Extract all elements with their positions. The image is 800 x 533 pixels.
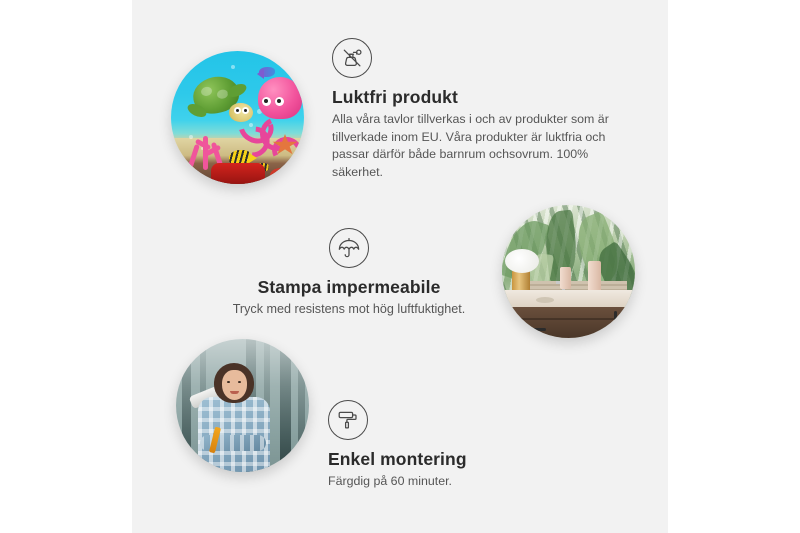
woman-with-paint-roller-photo bbox=[176, 339, 309, 472]
vanity-cabinet bbox=[502, 307, 635, 338]
tree-trunk bbox=[298, 339, 305, 472]
umbrella-icon bbox=[329, 228, 369, 268]
feature-description: Alla våra tavlor tillverkas i och av pro… bbox=[332, 111, 632, 181]
feature-odourless: Luktfri produkt Alla våra tavlor tillver… bbox=[332, 38, 632, 181]
no-fragrance-spray-bottle-icon bbox=[332, 38, 372, 78]
crab bbox=[270, 168, 292, 182]
underwater-cartoon-mural-photo bbox=[171, 51, 304, 184]
woman-face bbox=[222, 370, 247, 400]
tree-trunk bbox=[182, 339, 191, 472]
feature-description: Färgdig på 60 minuter. bbox=[328, 473, 578, 491]
feature-title: Luktfri produkt bbox=[332, 87, 632, 108]
flowers bbox=[505, 249, 539, 273]
bubble-icon bbox=[231, 65, 235, 69]
feature-title: Enkel montering bbox=[328, 449, 578, 470]
tropical-bathroom-mural-photo bbox=[502, 205, 635, 338]
feature-waterproof: Stampa impermeabile Tryck med resistens … bbox=[206, 228, 492, 319]
soap-dish bbox=[536, 297, 554, 303]
tree-trunk bbox=[280, 339, 291, 472]
soap-bottle bbox=[588, 261, 601, 293]
shipwreck-object bbox=[211, 163, 265, 184]
promo-graphic: Luktfri produkt Alla våra tavlor tillver… bbox=[0, 0, 800, 533]
small-fish-tail bbox=[257, 69, 264, 79]
countertop bbox=[502, 290, 635, 307]
soap-bottle bbox=[560, 267, 571, 289]
feature-title: Stampa impermeabile bbox=[206, 277, 492, 298]
paint-roller-icon bbox=[328, 400, 368, 440]
feature-description: Tryck med resistens mot hög luftfuktighe… bbox=[206, 301, 492, 319]
feature-easy-mounting: Enkel montering Färgdig på 60 minuter. bbox=[328, 400, 578, 491]
